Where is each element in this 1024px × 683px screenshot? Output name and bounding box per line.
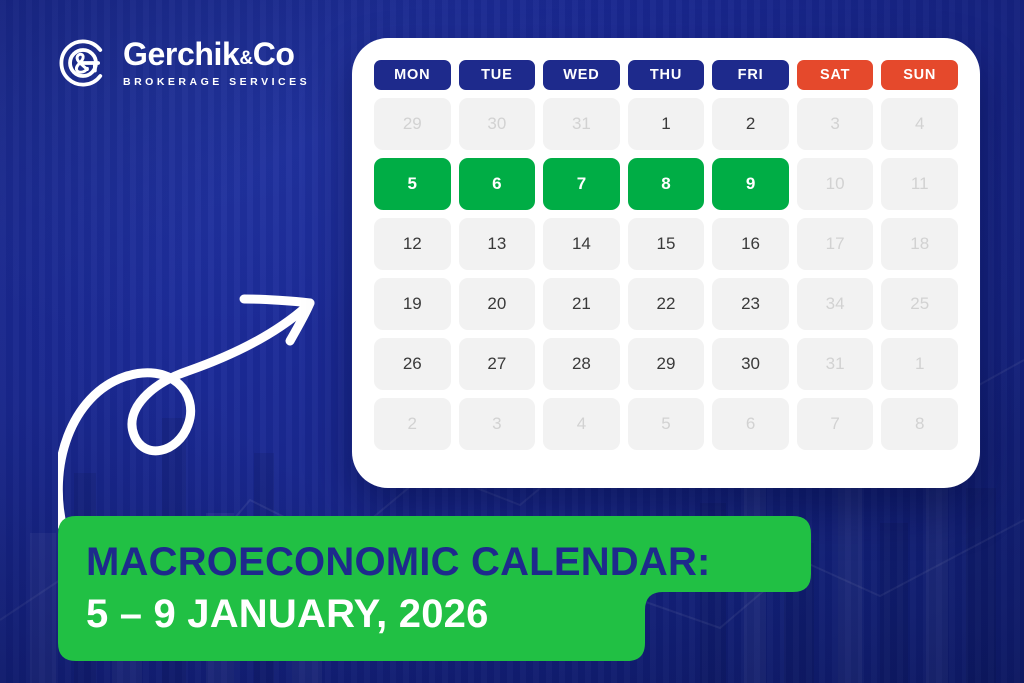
calendar-day-cell[interactable]: 34 — [797, 278, 874, 330]
calendar-day-cell[interactable]: 3 — [459, 398, 536, 450]
calendar-weekday-header: MONTUEWEDTHUFRISATSUN — [374, 60, 958, 90]
brand-tagline: BROKERAGE SERVICES — [123, 76, 310, 88]
calendar-day-cell[interactable]: 26 — [374, 338, 451, 390]
calendar-day-cell[interactable]: 22 — [628, 278, 705, 330]
weekday-header-fri: FRI — [712, 60, 789, 90]
calendar-day-cell[interactable]: 25 — [881, 278, 958, 330]
calendar-day-cell-highlighted[interactable]: 8 — [628, 158, 705, 210]
calendar-day-cell[interactable]: 30 — [712, 338, 789, 390]
calendar-day-cell[interactable]: 4 — [881, 98, 958, 150]
calendar-day-cell-highlighted[interactable]: 9 — [712, 158, 789, 210]
calendar-day-cell[interactable]: 15 — [628, 218, 705, 270]
calendar-day-cell[interactable]: 27 — [459, 338, 536, 390]
calendar-day-cell[interactable]: 1 — [628, 98, 705, 150]
weekday-header-wed: WED — [543, 60, 620, 90]
weekday-header-mon: MON — [374, 60, 451, 90]
calendar-day-cell[interactable]: 3 — [797, 98, 874, 150]
gerchik-monogram-icon — [56, 36, 110, 90]
calendar-day-cell[interactable]: 14 — [543, 218, 620, 270]
calendar-day-cell[interactable]: 16 — [712, 218, 789, 270]
calendar-day-cell-highlighted[interactable]: 7 — [543, 158, 620, 210]
calendar-day-cell[interactable]: 2 — [712, 98, 789, 150]
calendar-day-cell[interactable]: 23 — [712, 278, 789, 330]
calendar-day-cell[interactable]: 13 — [459, 218, 536, 270]
brand-logo[interactable]: Gerchik&Co BROKERAGE SERVICES — [56, 36, 310, 90]
calendar-day-cell[interactable]: 18 — [881, 218, 958, 270]
hand-drawn-loop-arrow-icon — [58, 275, 338, 540]
weekday-header-sat: SAT — [797, 60, 874, 90]
calendar-day-cell[interactable]: 4 — [543, 398, 620, 450]
calendar-day-cell[interactable]: 1 — [881, 338, 958, 390]
calendar-day-cell[interactable]: 11 — [881, 158, 958, 210]
weekday-header-thu: THU — [628, 60, 705, 90]
weekday-header-sun: SUN — [881, 60, 958, 90]
calendar-day-cell[interactable]: 19 — [374, 278, 451, 330]
weekday-header-tue: TUE — [459, 60, 536, 90]
brand-name-suffix: Co — [253, 36, 295, 72]
calendar-day-cell[interactable]: 29 — [374, 98, 451, 150]
calendar-day-cell[interactable]: 6 — [712, 398, 789, 450]
poster-canvas: Gerchik&Co BROKERAGE SERVICES MONTUEWEDT… — [0, 0, 1024, 683]
calendar-day-cell[interactable]: 20 — [459, 278, 536, 330]
calendar-day-cell[interactable]: 30 — [459, 98, 536, 150]
calendar-day-cell[interactable]: 29 — [628, 338, 705, 390]
calendar-day-cell[interactable]: 8 — [881, 398, 958, 450]
calendar-day-cell[interactable]: 21 — [543, 278, 620, 330]
calendar-day-cell-highlighted[interactable]: 6 — [459, 158, 536, 210]
brand-name-ampersand: & — [239, 48, 252, 69]
calendar-day-cell[interactable]: 31 — [797, 338, 874, 390]
calendar-day-cell[interactable]: 28 — [543, 338, 620, 390]
brand-name: Gerchik&Co — [123, 38, 310, 71]
brand-name-main: Gerchik — [123, 36, 239, 72]
calendar-day-cell[interactable]: 10 — [797, 158, 874, 210]
calendar-day-cell[interactable]: 5 — [628, 398, 705, 450]
calendar-day-cell[interactable]: 7 — [797, 398, 874, 450]
calendar-day-grid: 2930311234567891011121314151617181920212… — [374, 98, 958, 450]
calendar-card: MONTUEWEDTHUFRISATSUN 293031123456789101… — [352, 38, 980, 488]
calendar-day-cell[interactable]: 31 — [543, 98, 620, 150]
calendar-day-cell-highlighted[interactable]: 5 — [374, 158, 451, 210]
calendar-day-cell[interactable]: 17 — [797, 218, 874, 270]
calendar-day-cell[interactable]: 2 — [374, 398, 451, 450]
calendar-day-cell[interactable]: 12 — [374, 218, 451, 270]
title-banner-shape — [58, 516, 828, 661]
brand-logo-text: Gerchik&Co BROKERAGE SERVICES — [123, 38, 310, 88]
